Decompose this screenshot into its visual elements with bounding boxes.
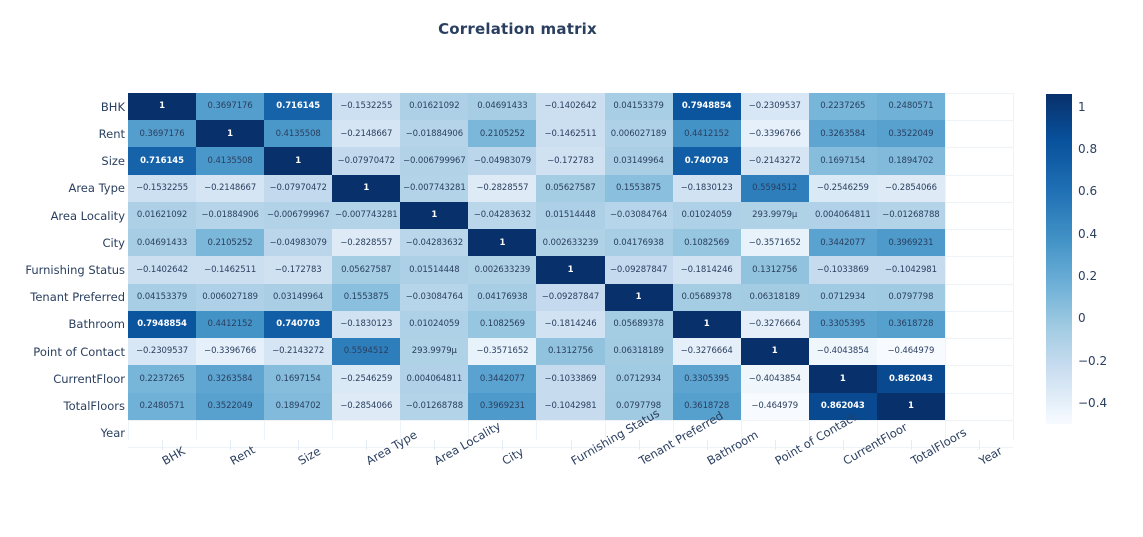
- heatmap-cell[interactable]: −0.2143272: [741, 147, 809, 174]
- heatmap-cell[interactable]: 293.9979μ: [741, 202, 809, 229]
- heatmap-cell[interactable]: −0.01884906: [400, 120, 468, 147]
- x-axis-tick-mark: [298, 440, 299, 450]
- heatmap-cell[interactable]: −0.2828557: [332, 229, 400, 256]
- heatmap-cell[interactable]: −0.007743281: [400, 175, 468, 202]
- heatmap-cell[interactable]: −0.1033869: [536, 365, 604, 392]
- heatmap-cell[interactable]: 0.716145: [128, 147, 196, 174]
- y-axis-tick-label: Area Type: [3, 181, 125, 195]
- heatmap-cell[interactable]: 0.06318189: [605, 338, 673, 365]
- heatmap-cell[interactable]: 0.740703: [264, 311, 332, 338]
- colorbar-tick-label: 0.8: [1078, 142, 1097, 156]
- heatmap-cell[interactable]: 1: [196, 120, 264, 147]
- heatmap-cell[interactable]: 0.04691433: [128, 229, 196, 256]
- heatmap-cell[interactable]: 1: [877, 393, 945, 420]
- heatmap-cell[interactable]: −0.04283632: [468, 202, 536, 229]
- heatmap-cell[interactable]: 0.004064811: [809, 202, 877, 229]
- heatmap-cell[interactable]: −0.007743281: [332, 202, 400, 229]
- colorbar-tick-label: 0.2: [1078, 269, 1097, 283]
- heatmap-cell[interactable]: −0.09287847: [536, 284, 604, 311]
- heatmap-cell[interactable]: 0.006027189: [605, 120, 673, 147]
- x-axis-tick-mark: [979, 440, 980, 450]
- heatmap-cell[interactable]: 0.03149964: [605, 147, 673, 174]
- heatmap-cell[interactable]: −0.3571652: [741, 229, 809, 256]
- heatmap-cell[interactable]: −0.006799967: [264, 202, 332, 229]
- heatmap-cell[interactable]: 0.002633239: [536, 229, 604, 256]
- heatmap-cell[interactable]: −0.172783: [264, 256, 332, 283]
- heatmap-cell[interactable]: 0.3697176: [128, 120, 196, 147]
- x-axis-tick-mark: [775, 440, 776, 450]
- heatmap-cell[interactable]: −0.2143272: [264, 338, 332, 365]
- heatmap-cell[interactable]: −0.3396766: [196, 338, 264, 365]
- heatmap-cell[interactable]: 0.1697154: [809, 147, 877, 174]
- y-axis-tick-label: Point of Contact: [3, 345, 125, 359]
- heatmap-cell[interactable]: 1: [400, 202, 468, 229]
- heatmap-cell[interactable]: 1: [536, 256, 604, 283]
- heatmap-cell[interactable]: 1: [264, 147, 332, 174]
- heatmap-cell[interactable]: 0.2480571: [877, 93, 945, 120]
- heatmap-cell[interactable]: 0.862043: [877, 365, 945, 392]
- x-axis-tick-mark: [571, 440, 572, 450]
- heatmap-cell[interactable]: −0.1814246: [536, 311, 604, 338]
- heatmap-cell[interactable]: −0.464979: [877, 338, 945, 365]
- heatmap-cell[interactable]: 0.4135508: [196, 147, 264, 174]
- heatmap-cell[interactable]: −0.03084764: [400, 284, 468, 311]
- heatmap-cell[interactable]: 0.716145: [264, 93, 332, 120]
- heatmap-cell[interactable]: −0.1462511: [536, 120, 604, 147]
- heatmap-cell[interactable]: 0.1082569: [673, 229, 741, 256]
- x-axis-tick-mark: [162, 440, 163, 450]
- heatmap-cell[interactable]: 0.002633239: [468, 256, 536, 283]
- heatmap-cell[interactable]: −0.2309537: [128, 338, 196, 365]
- heatmap-cell[interactable]: 0.3697176: [196, 93, 264, 120]
- heatmap-cell[interactable]: −0.172783: [536, 147, 604, 174]
- y-axis-tick-label: Bathroom: [3, 317, 125, 331]
- heatmap-cell[interactable]: 0.740703: [673, 147, 741, 174]
- heatmap-cell[interactable]: 0.5594512: [332, 338, 400, 365]
- heatmap-cell[interactable]: 0.1553875: [605, 175, 673, 202]
- y-axis-tick-label: CurrentFloor: [3, 372, 125, 386]
- heatmap-cell[interactable]: 0.2105252: [196, 229, 264, 256]
- heatmap-cell[interactable]: 0.05627587: [332, 256, 400, 283]
- x-axis-tick-mark: [911, 440, 912, 450]
- page-title: Correlation matrix: [0, 20, 1035, 38]
- heatmap-cell[interactable]: −0.1033869: [809, 256, 877, 283]
- heatmap-cell[interactable]: 1: [741, 338, 809, 365]
- heatmap-cell[interactable]: 0.0712934: [605, 365, 673, 392]
- heatmap-cell[interactable]: −0.1814246: [673, 256, 741, 283]
- heatmap-cell[interactable]: 0.3618728: [877, 311, 945, 338]
- heatmap-cell[interactable]: 0.04153379: [128, 284, 196, 311]
- heatmap-cell[interactable]: 0.2105252: [468, 120, 536, 147]
- x-axis-tick-mark: [434, 440, 435, 450]
- heatmap-cell[interactable]: 0.3969231: [877, 229, 945, 256]
- heatmap-cell[interactable]: 1: [605, 284, 673, 311]
- colorbar-tick-label: −0.2: [1078, 354, 1107, 368]
- heatmap-cell[interactable]: 0.1082569: [468, 311, 536, 338]
- colorbar-gradient: [1046, 94, 1072, 424]
- y-axis-tick-label: TotalFloors: [3, 399, 125, 413]
- heatmap-cell[interactable]: −0.2854066: [877, 175, 945, 202]
- heatmap-cell[interactable]: −0.1042981: [877, 256, 945, 283]
- heatmap-cell[interactable]: 0.3442077: [809, 229, 877, 256]
- heatmap-cell[interactable]: 1: [128, 93, 196, 120]
- heatmap-cell[interactable]: −0.04983079: [264, 229, 332, 256]
- heatmap-cell[interactable]: 1: [673, 311, 741, 338]
- heatmap-cell[interactable]: −0.2546259: [332, 365, 400, 392]
- x-axis-tick-mark: [639, 440, 640, 450]
- heatmap-cell[interactable]: −0.3276664: [673, 338, 741, 365]
- heatmap-cell[interactable]: 0.3522049: [877, 120, 945, 147]
- heatmap-cell[interactable]: 0.06318189: [741, 284, 809, 311]
- heatmap-cell[interactable]: 0.2480571: [128, 393, 196, 420]
- y-axis-tick-label: Rent: [3, 127, 125, 141]
- heatmap-cell[interactable]: −0.01884906: [196, 202, 264, 229]
- x-axis-tick-mark: [502, 440, 503, 450]
- heatmap-cell[interactable]: −0.01268788: [877, 202, 945, 229]
- y-axis-tick-label: Furnishing Status: [3, 263, 125, 277]
- correlation-matrix-figure: Correlation matrix 10.36971760.716145−0.…: [0, 0, 1143, 537]
- y-axis-tick-label: BHK: [3, 100, 125, 114]
- heatmap-cell[interactable]: 0.01024059: [400, 311, 468, 338]
- y-axis-tick-label: City: [3, 236, 125, 250]
- heatmap-cell[interactable]: −0.2148667: [332, 120, 400, 147]
- heatmap-cell[interactable]: 0.1553875: [332, 284, 400, 311]
- heatmap-cell[interactable]: 0.04153379: [605, 93, 673, 120]
- heatmap-cell[interactable]: 0.01621092: [400, 93, 468, 120]
- x-axis-tick-mark: [366, 440, 367, 450]
- heatmap-cell[interactable]: 0.7948854: [128, 311, 196, 338]
- heatmap-cell[interactable]: 0.1894702: [264, 393, 332, 420]
- heatmap-cell[interactable]: −0.1830123: [332, 311, 400, 338]
- x-axis-tick-mark: [230, 440, 231, 450]
- heatmap-cell[interactable]: −0.1532255: [332, 93, 400, 120]
- gridline-vertical: [945, 93, 946, 440]
- heatmap-cell[interactable]: 0.7948854: [673, 93, 741, 120]
- heatmap-cell[interactable]: −0.4043854: [741, 365, 809, 392]
- colorbar-tick-label: 0.6: [1078, 184, 1097, 198]
- x-axis-tick-mark: [843, 440, 844, 450]
- heatmap-cell[interactable]: −0.4043854: [809, 338, 877, 365]
- heatmap-cell[interactable]: −0.2854066: [332, 393, 400, 420]
- x-axis: BHKRentSizeArea TypeArea LocalityCityFur…: [128, 440, 1018, 537]
- heatmap-cell[interactable]: 0.0712934: [809, 284, 877, 311]
- heatmap-cell[interactable]: −0.2828557: [468, 175, 536, 202]
- heatmap-cell[interactable]: 1: [468, 229, 536, 256]
- heatmap-cell[interactable]: 0.01514448: [400, 256, 468, 283]
- heatmap-cell[interactable]: −0.1462511: [196, 256, 264, 283]
- heatmap-cells: 10.36971760.716145−0.15322550.016210920.…: [128, 93, 945, 420]
- heatmap-cell[interactable]: 0.0797798: [877, 284, 945, 311]
- heatmap-cell[interactable]: −0.006799967: [400, 147, 468, 174]
- heatmap-cell[interactable]: −0.1532255: [128, 175, 196, 202]
- y-axis-tick-label: Size: [3, 154, 125, 168]
- y-axis-tick-label: Tenant Preferred: [3, 290, 125, 304]
- heatmap-cell[interactable]: 0.3263584: [196, 365, 264, 392]
- heatmap-cell[interactable]: 0.04691433: [468, 93, 536, 120]
- heatmap-cell[interactable]: 0.4412152: [673, 120, 741, 147]
- heatmap-cell[interactable]: 0.1312756: [536, 338, 604, 365]
- heatmap-cell[interactable]: −0.464979: [741, 393, 809, 420]
- heatmap-cell[interactable]: 0.05689378: [605, 311, 673, 338]
- heatmap-cell[interactable]: −0.2148667: [196, 175, 264, 202]
- heatmap-cell[interactable]: 0.1697154: [264, 365, 332, 392]
- heatmap-cell[interactable]: −0.3396766: [741, 120, 809, 147]
- heatmap-cell[interactable]: 0.3305395: [809, 311, 877, 338]
- colorbar-tick-label: −0.4: [1078, 396, 1107, 410]
- colorbar-tick-label: 0: [1078, 311, 1086, 325]
- heatmap-cell[interactable]: 0.3305395: [673, 365, 741, 392]
- y-axis: BHKRentSizeArea TypeArea LocalityCityFur…: [0, 93, 125, 447]
- heatmap-cell[interactable]: 0.1312756: [741, 256, 809, 283]
- heatmap-cell[interactable]: 1: [809, 365, 877, 392]
- heatmap-cell[interactable]: −0.1830123: [673, 175, 741, 202]
- heatmap-cell[interactable]: 0.01024059: [673, 202, 741, 229]
- heatmap-cell[interactable]: −0.1402642: [128, 256, 196, 283]
- heatmap-cell[interactable]: −0.1402642: [536, 93, 604, 120]
- gridline-vertical: [1013, 93, 1014, 440]
- heatmap-cell[interactable]: 0.3969231: [468, 393, 536, 420]
- heatmap-plot-area: 10.36971760.716145−0.15322550.016210920.…: [128, 93, 1013, 440]
- heatmap-cell[interactable]: 0.4412152: [196, 311, 264, 338]
- heatmap-cell[interactable]: 0.004064811: [400, 365, 468, 392]
- heatmap-cell[interactable]: 0.5594512: [741, 175, 809, 202]
- heatmap-cell[interactable]: −0.1042981: [536, 393, 604, 420]
- heatmap-cell[interactable]: −0.2546259: [809, 175, 877, 202]
- heatmap-cell[interactable]: −0.04983079: [468, 147, 536, 174]
- heatmap-cell[interactable]: 0.05627587: [536, 175, 604, 202]
- heatmap-cell[interactable]: −0.07970472: [332, 147, 400, 174]
- heatmap-cell[interactable]: −0.03084764: [605, 202, 673, 229]
- heatmap-cell[interactable]: 0.3263584: [809, 120, 877, 147]
- heatmap-cell[interactable]: 0.2237265: [128, 365, 196, 392]
- x-axis-tick-mark: [707, 440, 708, 450]
- heatmap-cell[interactable]: −0.01268788: [400, 393, 468, 420]
- heatmap-cell[interactable]: −0.3276664: [741, 311, 809, 338]
- heatmap-cell[interactable]: 0.03149964: [264, 284, 332, 311]
- heatmap-cell[interactable]: 0.3522049: [196, 393, 264, 420]
- heatmap-cell[interactable]: 0.04176938: [605, 229, 673, 256]
- heatmap-cell[interactable]: 293.9979μ: [400, 338, 468, 365]
- heatmap-cell[interactable]: 0.04176938: [468, 284, 536, 311]
- heatmap-cell[interactable]: 0.2237265: [809, 93, 877, 120]
- colorbar-tick-label: 0.4: [1078, 227, 1097, 241]
- heatmap-cell[interactable]: 0.05689378: [673, 284, 741, 311]
- colorbar-tick-label: 1: [1078, 100, 1086, 114]
- y-axis-tick-label: Area Locality: [3, 209, 125, 223]
- heatmap-cell[interactable]: −0.3571652: [468, 338, 536, 365]
- heatmap-cell[interactable]: 0.3442077: [468, 365, 536, 392]
- heatmap-cell[interactable]: 0.01621092: [128, 202, 196, 229]
- heatmap-cell[interactable]: −0.2309537: [741, 93, 809, 120]
- heatmap-cell[interactable]: 0.1894702: [877, 147, 945, 174]
- heatmap-cell[interactable]: −0.09287847: [605, 256, 673, 283]
- heatmap-cell[interactable]: 1: [332, 175, 400, 202]
- heatmap-cell[interactable]: 0.4135508: [264, 120, 332, 147]
- heatmap-cell[interactable]: −0.07970472: [264, 175, 332, 202]
- heatmap-cell[interactable]: 0.01514448: [536, 202, 604, 229]
- heatmap-cell[interactable]: 0.006027189: [196, 284, 264, 311]
- y-axis-tick-label: Year: [3, 426, 125, 440]
- heatmap-cell[interactable]: −0.04283632: [400, 229, 468, 256]
